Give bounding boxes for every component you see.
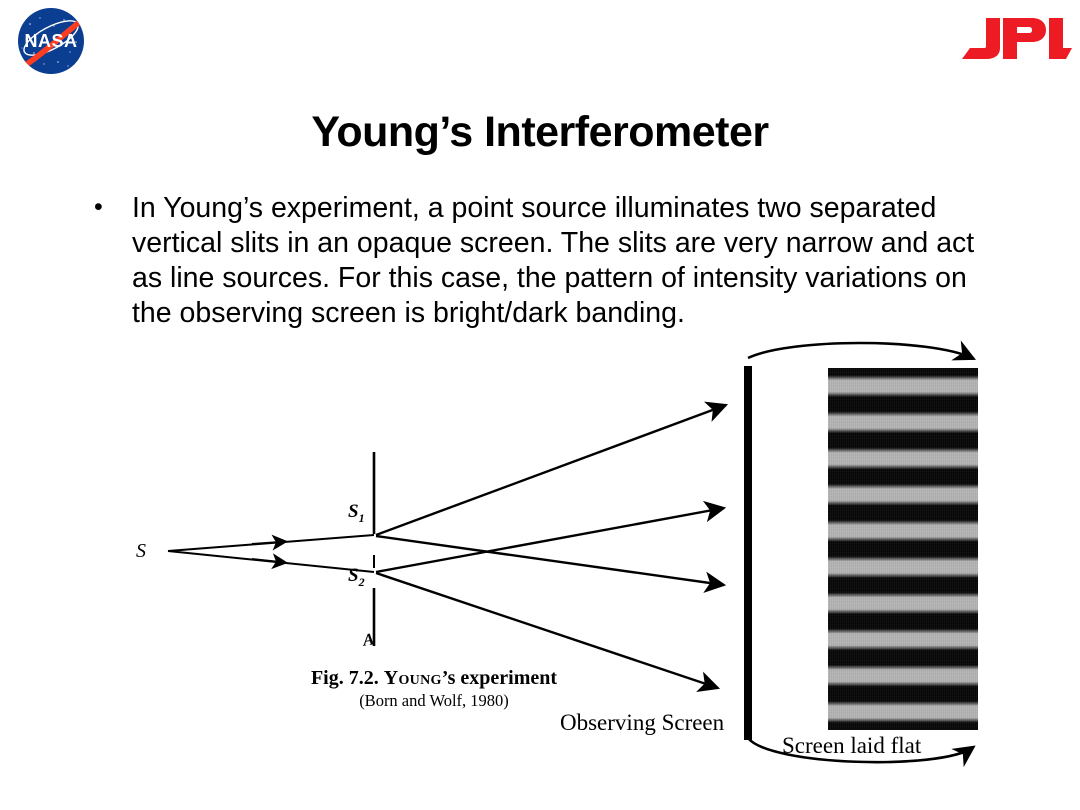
slit-1-label: S1 [348, 501, 365, 526]
ray-s1-lower [376, 536, 724, 585]
photo-grain-texture [828, 368, 978, 730]
source-label: S [136, 540, 146, 563]
slide-canvas: NASA Young’s Interferometer • In Young’s… [0, 0, 1080, 810]
page-title: Young’s Interferometer [0, 108, 1080, 157]
jpl-logo [956, 14, 1072, 62]
ray-s1-upper [376, 405, 726, 535]
incident-rays [168, 535, 374, 572]
figure-credit: (Born and Wolf, 1980) [284, 691, 584, 711]
observing-screen-label: Observing Screen [560, 710, 724, 736]
figure-caption-line: Fig. 7.2. Young’s experiment [284, 667, 584, 690]
fringe-pattern-photograph [828, 368, 978, 730]
body-content: • In Young’s experiment, a point source … [88, 191, 1008, 331]
jpl-wordmark [962, 18, 1072, 59]
slit-2-label: S2 [348, 565, 365, 590]
nasa-wordmark: NASA [24, 31, 77, 51]
nasa-insignia-logo: NASA [10, 6, 92, 76]
youngs-experiment-diagram: S S1 S2 A Fig. 7.2. Young’s experiment (… [0, 330, 1080, 810]
screen-laid-flat-label: Screen laid flat [782, 733, 921, 759]
curved-arrow-top [748, 343, 972, 358]
bullet-text: In Young’s experiment, a point source il… [132, 192, 974, 329]
incident-ray-arrow-top [252, 542, 280, 544]
ray-s2-upper [376, 508, 724, 572]
figure-caption: Fig. 7.2. Young’s experiment (Born and W… [284, 667, 584, 711]
diffracted-rays [376, 405, 726, 688]
bullet-marker: • [94, 190, 103, 225]
bullet-item: • In Young’s experiment, a point source … [88, 191, 1008, 331]
observing-screen-bar [744, 366, 752, 740]
